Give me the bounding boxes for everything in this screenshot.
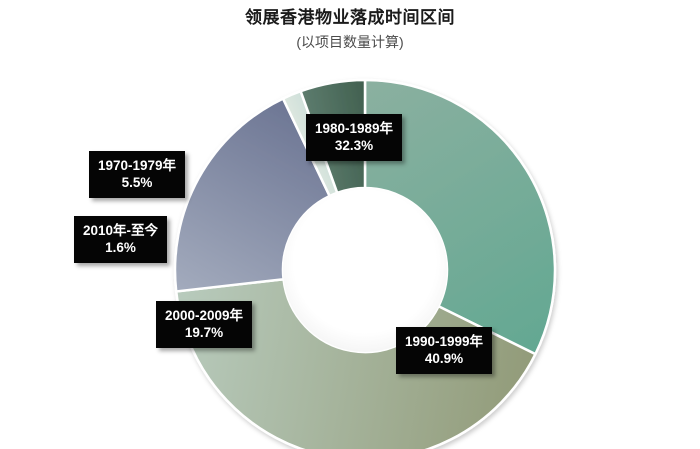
slice-label-category: 1990-1999年	[405, 333, 483, 350]
slice-label-value: 32.3%	[315, 137, 393, 154]
slice-label-1970-1979: 1970-1979年 5.5%	[89, 151, 185, 198]
slice-label-category: 1970-1979年	[98, 157, 176, 174]
slice-label-value: 1.6%	[83, 239, 158, 256]
slice-label-category: 2010年-至今	[83, 222, 158, 239]
slice-label-value: 5.5%	[98, 174, 176, 191]
donut-chart-figure: 领展香港物业落成时间区间 (以项目数量计算) 1980-1989年 32.3% …	[0, 0, 700, 449]
slice-label-value: 40.9%	[405, 350, 483, 367]
slice-label-2010-present: 2010年-至今 1.6%	[74, 216, 167, 263]
slice-label-category: 1980-1989年	[315, 120, 393, 137]
slice-label-1980-1989: 1980-1989年 32.3%	[306, 114, 402, 161]
slice-label-2000-2009: 2000-2009年 19.7%	[156, 301, 252, 348]
slice-label-1990-1999: 1990-1999年 40.9%	[396, 327, 492, 374]
slice-label-category: 2000-2009年	[165, 307, 243, 324]
slice-label-value: 19.7%	[165, 324, 243, 341]
